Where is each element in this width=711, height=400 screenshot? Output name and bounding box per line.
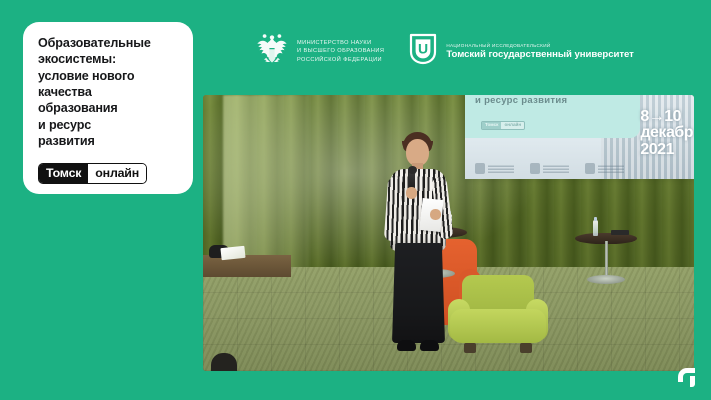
speaker-person — [385, 131, 451, 369]
quote-corner-mark-icon — [678, 368, 695, 388]
brand-badge-city: Томск — [39, 164, 88, 183]
side-table-right — [575, 233, 637, 285]
table-base — [587, 275, 625, 284]
armchair-seat — [450, 309, 546, 343]
video-player[interactable]: и ресурс развития Томск онлайн 8→10 дека… — [203, 95, 694, 371]
screen-date-line-3: 2021 — [640, 142, 693, 158]
screen-badge-city: Томск — [482, 122, 501, 129]
page-title: Образовательные экосистемы: условие ново… — [38, 35, 179, 150]
ministry-line-3: РОССИЙСКОЙ ФЕДЕРАЦИИ — [297, 56, 384, 65]
papers-prop — [220, 246, 245, 260]
screen-date: 8→10 декабр 2021 — [640, 109, 693, 158]
table-item — [611, 230, 629, 235]
header-logo-row: МИНИСТЕРСТВО НАУКИ И ВЫСШЕГО ОБРАЗОВАНИЯ… — [255, 30, 634, 73]
presentation-screen: и ресурс развития Томск онлайн 8→10 дека… — [465, 95, 694, 179]
speaker-shoe-left — [397, 340, 416, 351]
screen-date-line-2: декабр — [640, 125, 693, 141]
shield-u-icon: U — [408, 32, 438, 71]
ministry-line-2: И ВЫСШЕГО ОБРАЗОВАНИЯ — [297, 47, 384, 56]
screen-date-line-1: 8→10 — [640, 109, 693, 125]
foreground-object — [211, 353, 237, 371]
university-logo: U Национальный исследовательский Томский… — [408, 32, 633, 71]
university-name: Томский государственный университет — [446, 49, 633, 60]
armchair-foot-right — [520, 343, 532, 353]
ministry-logo: МИНИСТЕРСТВО НАУКИ И ВЫСШЕГО ОБРАЗОВАНИЯ… — [255, 30, 384, 73]
screen-partner-logo-icon — [585, 163, 624, 174]
broadcast-stage: Образовательные экосистемы: условие ново… — [0, 0, 711, 400]
speaker-head — [406, 139, 429, 166]
ministry-line-1: МИНИСТЕРСТВО НАУКИ — [297, 39, 384, 48]
ministry-logo-text: МИНИСТЕРСТВО НАУКИ И ВЫСШЕГО ОБРАЗОВАНИЯ… — [297, 39, 384, 65]
water-bottle — [593, 220, 598, 236]
screen-university-logo-icon — [530, 163, 569, 174]
screen-logo-row — [475, 163, 624, 174]
svg-text:U: U — [418, 41, 428, 57]
brand-badge: Томск онлайн — [38, 163, 147, 184]
corner-mark-tail — [690, 376, 695, 387]
speaker-trousers — [392, 243, 445, 343]
green-armchair — [450, 275, 546, 353]
speaker-hand-left — [406, 187, 417, 199]
screen-brand-badge: Томск онлайн — [481, 121, 525, 130]
double-headed-eagle-icon — [255, 30, 289, 73]
screen-headline: и ресурс развития — [475, 95, 567, 106]
university-superline: Национальный исследовательский — [446, 43, 633, 50]
armchair-foot-left — [464, 343, 476, 353]
title-card: Образовательные экосистемы: условие ново… — [23, 22, 193, 194]
table-stem — [605, 241, 608, 277]
stage-platform — [203, 255, 291, 277]
brand-badge-mode: онлайн — [88, 164, 146, 183]
speaker-shoe-right — [420, 340, 439, 351]
university-logo-text: Национальный исследовательский Томский г… — [446, 43, 633, 61]
speaker-hand-right — [430, 209, 441, 220]
screen-ministry-logo-icon — [475, 163, 514, 174]
screen-badge-mode: онлайн — [501, 122, 524, 129]
